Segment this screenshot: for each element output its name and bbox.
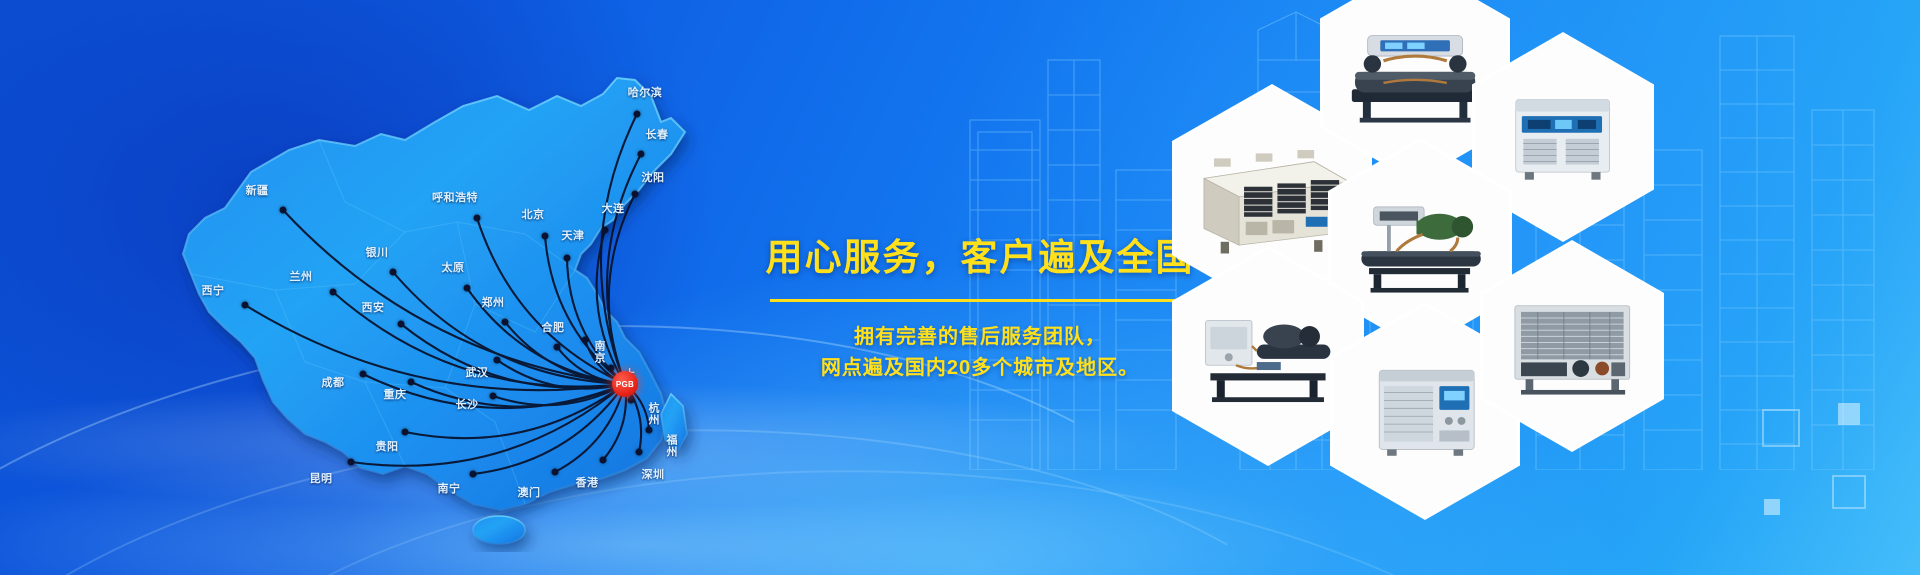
city-dot-4[interactable]	[474, 215, 481, 222]
city-dot-25[interactable]	[582, 337, 589, 344]
banner-copy: 用心服务，客户遍及全国 拥有完善的售后服务团队， 网点遍及国内20多个城市及地区…	[745, 238, 1215, 384]
product-hexagon-grid	[1180, 0, 1920, 575]
city-label-2: 兰州	[290, 268, 313, 284]
water-cooled-screw-chiller-image	[1336, 0, 1494, 156]
city-dot-11[interactable]	[464, 285, 471, 292]
city-label-11: 太原	[442, 259, 465, 275]
city-label-20: 昆明	[310, 470, 333, 486]
city-label-10: 哈尔滨	[628, 84, 663, 100]
city-dot-9[interactable]	[638, 151, 645, 158]
city-dot-23[interactable]	[600, 457, 607, 464]
city-label-27: 杭州	[645, 402, 661, 426]
city-label-18: 长沙	[456, 396, 479, 412]
city-dot-22[interactable]	[552, 469, 559, 476]
city-dot-13[interactable]	[502, 319, 509, 326]
city-label-4: 呼和浩特	[432, 189, 478, 205]
city-label-12: 西安	[362, 299, 385, 315]
city-dot-3[interactable]	[390, 269, 397, 276]
city-label-13: 郑州	[482, 294, 505, 310]
screw-compressor-unit-image	[1343, 164, 1496, 325]
city-label-1: 西宁	[202, 282, 225, 298]
city-label-5: 北京	[522, 206, 545, 222]
city-label-28: 福州	[663, 434, 679, 458]
banner-subtitle: 拥有完善的售后服务团队， 网点遍及国内20多个城市及地区。	[745, 322, 1215, 384]
city-dot-27[interactable]	[628, 397, 635, 404]
city-dot-19[interactable]	[402, 429, 409, 436]
city-label-14: 合肥	[542, 319, 565, 335]
city-dot-16[interactable]	[408, 379, 415, 386]
city-dot-7[interactable]	[602, 227, 609, 234]
headquarters-hub-marker[interactable]: PGB	[612, 371, 638, 397]
decor-square-3	[1832, 475, 1866, 509]
city-dot-2[interactable]	[330, 289, 337, 296]
low-temp-condensing-unit-image	[1188, 273, 1348, 440]
city-dot-6[interactable]	[564, 255, 571, 262]
banner-headline: 用心服务，客户遍及全国	[745, 238, 1215, 279]
city-dot-21[interactable]	[470, 471, 477, 478]
hub-label: PGB	[612, 371, 638, 397]
city-label-7: 大连	[602, 200, 625, 216]
subtitle-line-2: 网点遍及国内20多个城市及地区。	[745, 353, 1215, 384]
city-dot-8[interactable]	[632, 191, 639, 198]
city-dot-20[interactable]	[348, 459, 355, 466]
city-label-21: 南宁	[438, 480, 461, 496]
divider-rule	[770, 299, 1190, 302]
city-label-0: 新疆	[246, 182, 269, 198]
city-dot-1[interactable]	[242, 302, 249, 309]
city-label-24: 深圳	[642, 466, 665, 482]
china-map: 新疆西宁兰州银川呼和浩特北京天津大连沈阳长春哈尔滨太原西安郑州合肥成都重庆武汉长…	[105, 22, 805, 552]
decor-square-4	[1764, 499, 1780, 515]
decor-square-1	[1762, 409, 1800, 447]
city-label-25: 南京	[591, 340, 607, 364]
city-dot-12[interactable]	[398, 321, 405, 328]
city-label-22: 澳门	[518, 484, 541, 500]
city-label-6: 天津	[562, 227, 585, 243]
city-dot-17[interactable]	[494, 357, 501, 364]
city-dot-24[interactable]	[636, 449, 643, 456]
city-dot-28[interactable]	[646, 427, 653, 434]
city-dot-0[interactable]	[280, 207, 287, 214]
city-dot-5[interactable]	[542, 233, 549, 240]
city-dot-18[interactable]	[490, 393, 497, 400]
city-dot-14[interactable]	[554, 344, 561, 351]
city-label-3: 银川	[366, 244, 389, 260]
city-label-15: 成都	[322, 374, 345, 390]
city-label-17: 武汉	[466, 364, 489, 380]
city-label-23: 香港	[576, 474, 599, 490]
city-label-19: 贵阳	[376, 438, 399, 454]
city-dot-10[interactable]	[634, 111, 641, 118]
promotional-banner: 新疆西宁兰州银川呼和浩特北京天津大连沈阳长春哈尔滨太原西安郑州合肥成都重庆武汉长…	[0, 0, 1920, 575]
air-cooled-chiller-coil-image	[1495, 266, 1648, 427]
city-label-16: 重庆	[384, 386, 407, 402]
subtitle-line-1: 拥有完善的售后服务团队，	[745, 322, 1215, 353]
city-dot-15[interactable]	[360, 371, 367, 378]
city-label-9: 长春	[646, 126, 669, 142]
decor-square-2	[1838, 403, 1860, 425]
city-label-8: 沈阳	[642, 169, 665, 185]
